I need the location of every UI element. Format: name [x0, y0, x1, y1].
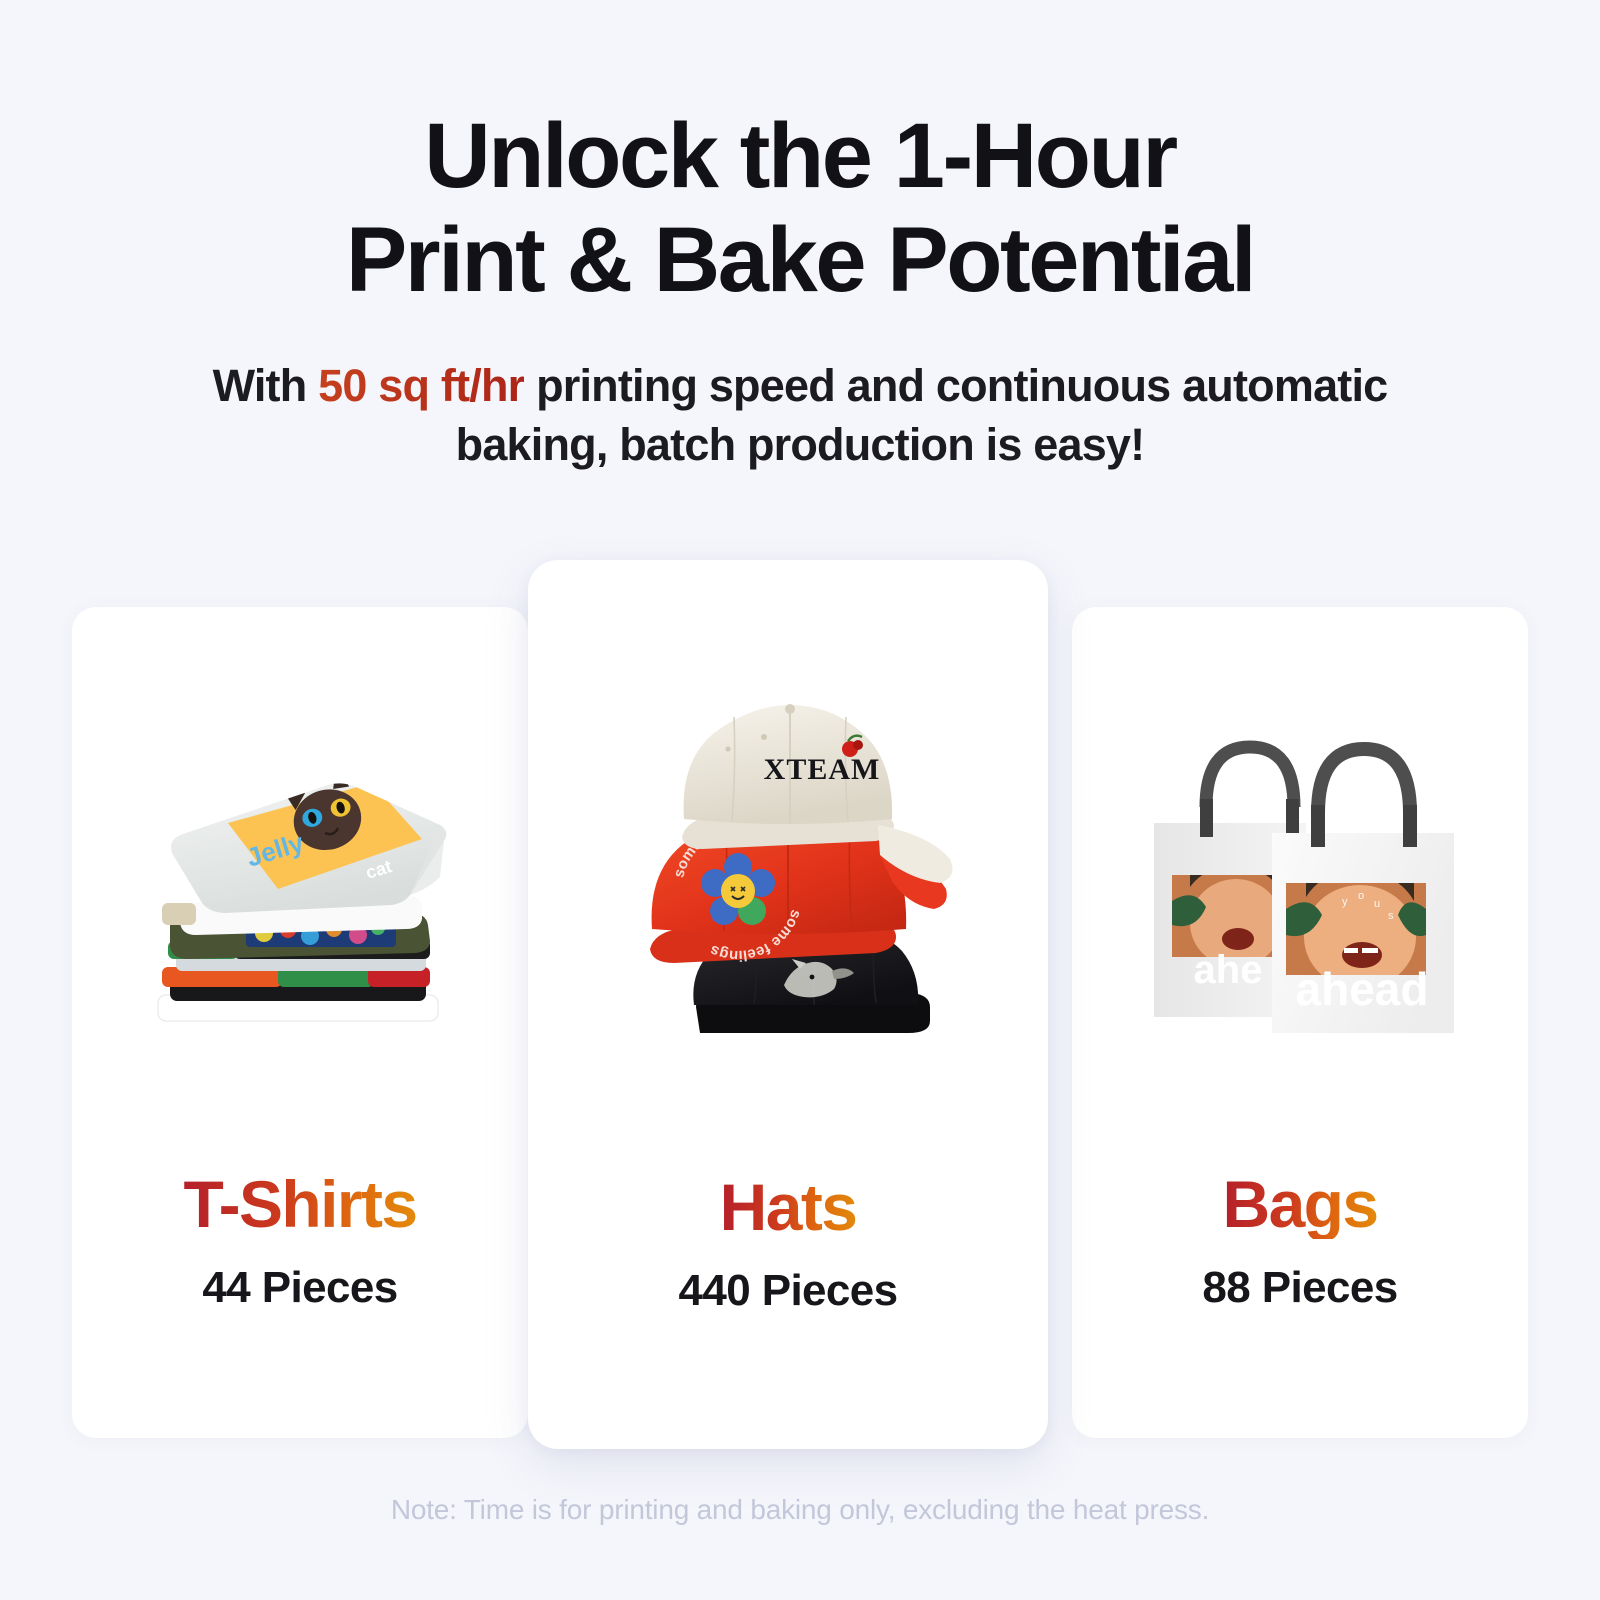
subtitle-text-before: With [213, 360, 319, 411]
product-card-row: Jelly cat T-Shirts 44 Pieces [0, 560, 1600, 1460]
tshirt-stack-artwork: Jelly cat [72, 607, 528, 1147]
card-label-hats: Hats [720, 1172, 857, 1242]
caps-artwork: WOLF [528, 560, 1048, 1150]
promo-poster: Unlock the 1-Hour Print & Bake Potential… [0, 0, 1600, 1600]
card-count-bags: 88 Pieces [1202, 1263, 1397, 1313]
card-label-tshirts: T-Shirts [184, 1169, 417, 1239]
page-title: Unlock the 1-Hour Print & Bake Potential [0, 104, 1600, 312]
tote-back-print-text: ahe [1194, 948, 1263, 992]
poster-header: Unlock the 1-Hour Print & Bake Potential… [0, 0, 1600, 474]
footer-note: Note: Time is for printing and baking on… [0, 1492, 1600, 1600]
svg-text:y: y [1342, 896, 1348, 908]
svg-text:s: s [1388, 910, 1394, 922]
card-count-tshirts: 44 Pieces [202, 1263, 397, 1313]
tote-bags-artwork: ahe [1072, 607, 1528, 1147]
headline-line-1: Unlock the 1-Hour [0, 104, 1600, 208]
product-card-bags[interactable]: ahe [1072, 607, 1528, 1438]
svg-text:o: o [1358, 890, 1364, 902]
subtitle: With 50 sq ft/hr printing speed and cont… [0, 356, 1600, 474]
folded-tshirt-stack-icon: Jelly cat [110, 727, 490, 1047]
tote-bag-pair-icon: ahe [1110, 687, 1490, 1087]
product-card-tshirts[interactable]: Jelly cat T-Shirts 44 Pieces [72, 607, 528, 1438]
card-count-hats: 440 Pieces [678, 1266, 897, 1316]
headline-line-2: Print & Bake Potential [0, 208, 1600, 312]
cap-cream-text: XTEAM [764, 753, 881, 786]
subtitle-text-after: printing speed and continuous automatic … [456, 360, 1388, 470]
subtitle-accent-speed: 50 sq ft/hr [318, 360, 524, 411]
tote-front-print-text: ahead [1296, 963, 1429, 1015]
card-label-bags: Bags [1223, 1169, 1378, 1239]
stacked-caps-icon: WOLF [578, 633, 998, 1103]
product-card-hats[interactable]: WOLF [528, 560, 1048, 1449]
svg-text:u: u [1374, 898, 1380, 910]
